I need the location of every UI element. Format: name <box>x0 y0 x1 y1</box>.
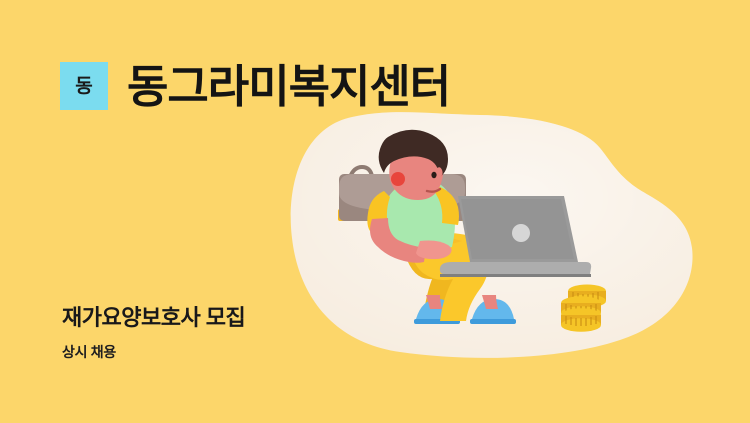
cheek-blush <box>391 172 405 186</box>
poster-canvas: 동 동그라미복지센터 <box>0 0 750 423</box>
brand-badge: 동 <box>60 62 108 110</box>
page-title: 동그라미복지센터 <box>127 64 450 109</box>
recruitment-headline: 재가요양보호사 모집 <box>62 305 245 331</box>
recruitment-copy: 재가요양보호사 모집 상시 채용 <box>62 305 245 362</box>
recruitment-subline: 상시 채용 <box>62 342 245 362</box>
brand-lockup: 동 동그라미복지센터 <box>60 62 450 110</box>
coin-stack-icon <box>552 274 614 336</box>
